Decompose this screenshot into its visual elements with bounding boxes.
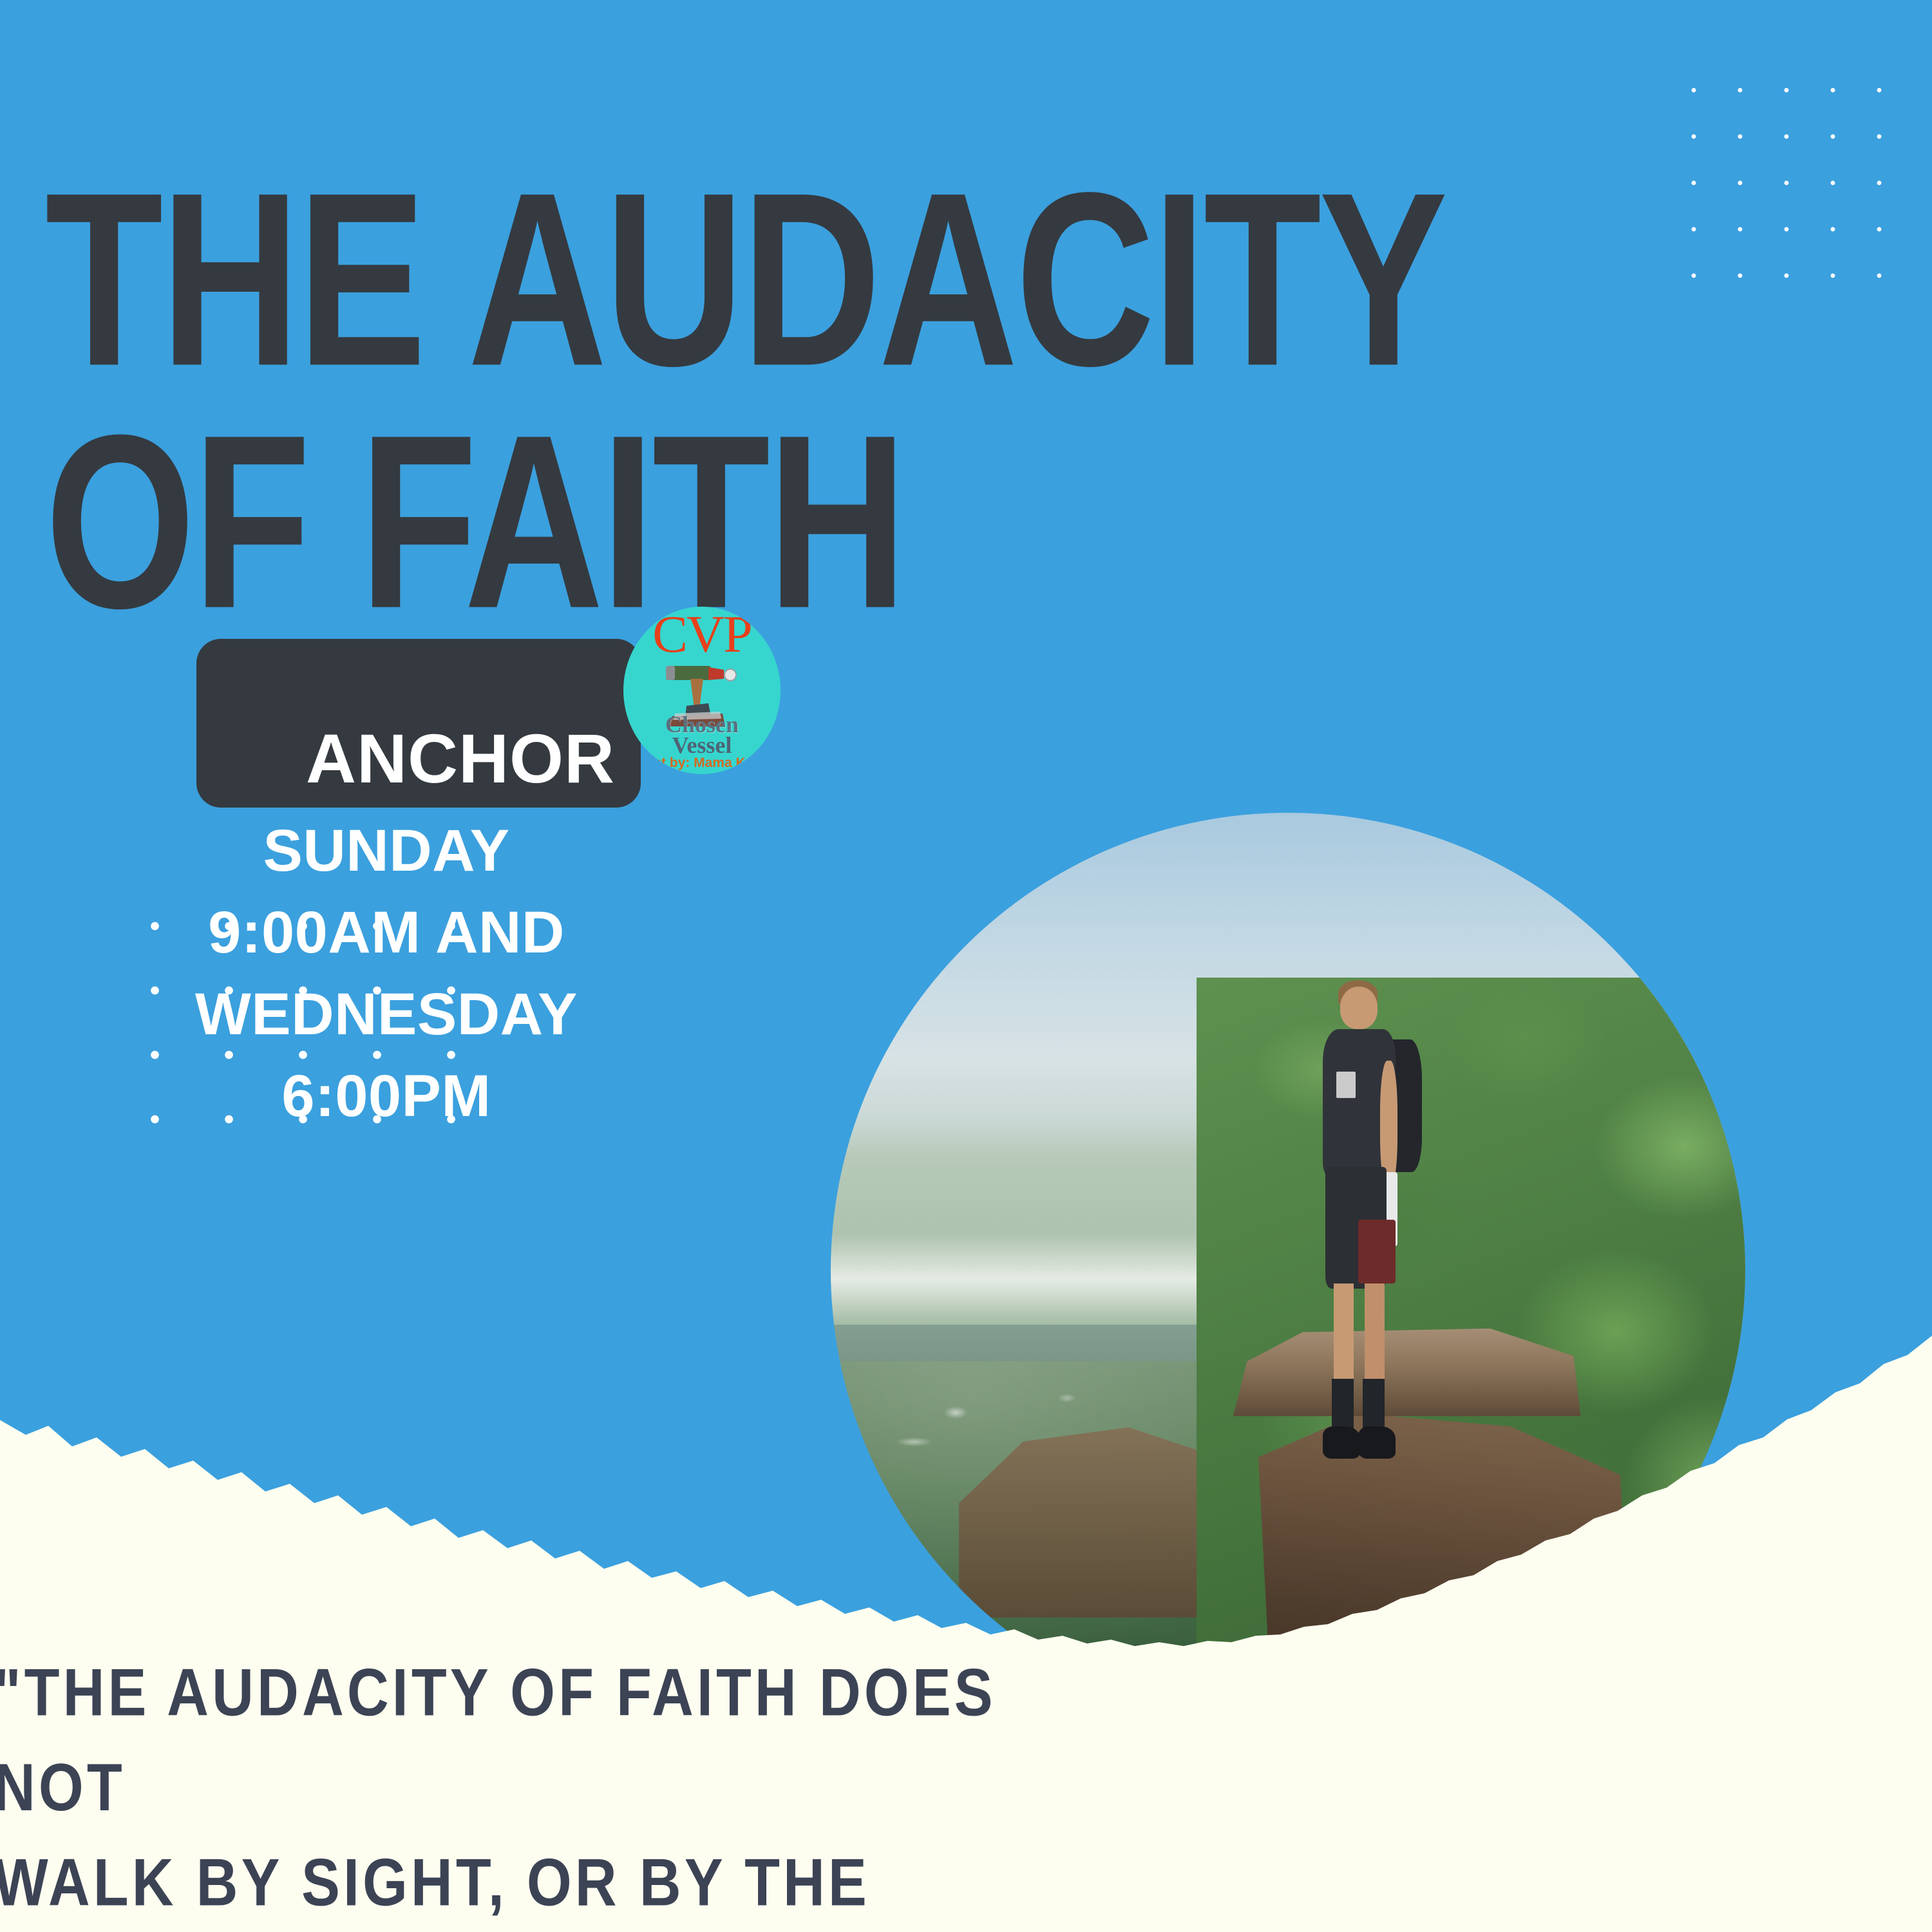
poster-canvas: THE AUDACITY OF FAITH ANCHOR CVP Chosen … [0,0,1932,1932]
page-title: THE AUDACITY OF FAITH [45,158,1848,643]
hero-photo [831,813,1745,1727]
anchor-badge-label: ANCHOR [306,724,615,793]
cvp-logo: CVP Chosen Vessel Host by: Mama Kass [623,607,781,774]
anchor-badge: ANCHOR [196,639,641,808]
hiker-figure [1283,987,1503,1517]
service-schedule: SUNDAY 9:00AM AND WEDNESDAY 6:00PM [116,810,657,1137]
cvp-initials: CVP [623,608,781,661]
quote-text: "THE AUDACITY OF FAITH DOES NOT WALK BY … [0,1645,1110,1932]
cvp-tagline-line2: Vessel [623,734,781,756]
cvp-host-credit: Host by: Mama Kass [623,756,781,770]
